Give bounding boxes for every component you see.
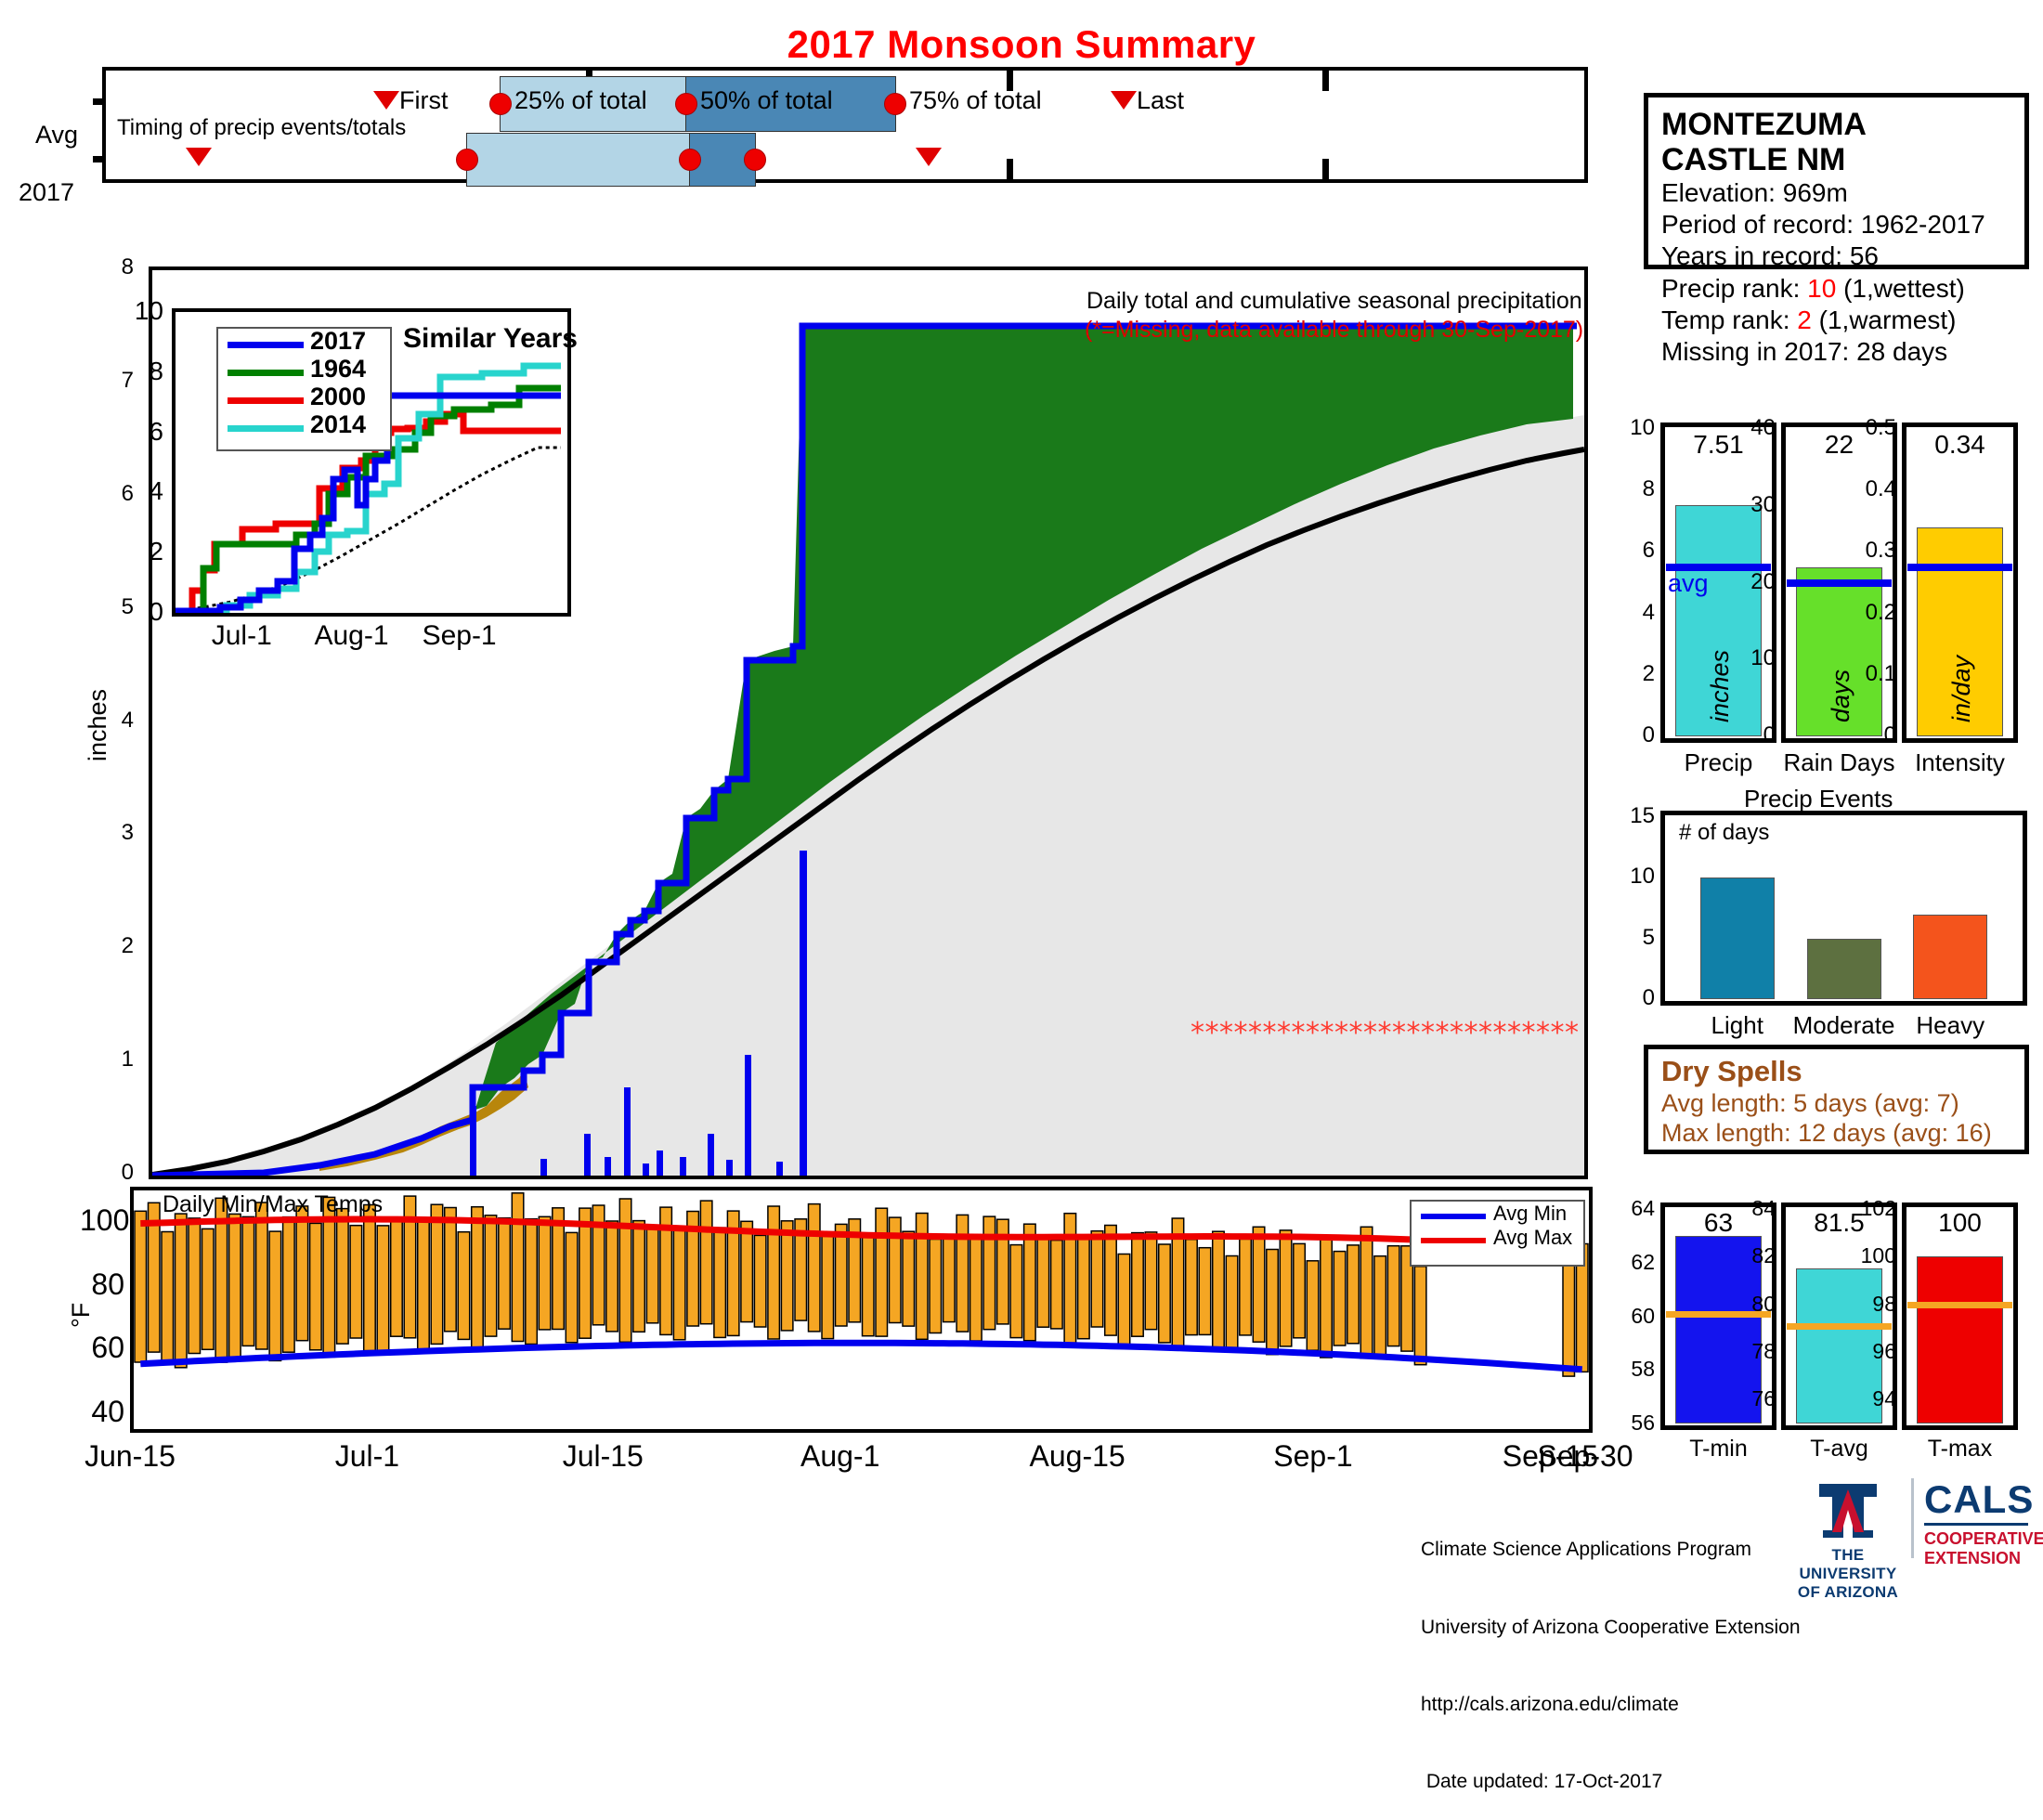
footer-line3: http://cals.arizona.edu/climate <box>1421 1692 1801 1718</box>
temp-daily-range-bar <box>1334 1252 1346 1345</box>
inset-legend-label-2014: 2014 <box>310 410 366 439</box>
footer-credits: Climate Science Applications Program Uni… <box>1421 1486 1801 1820</box>
station-name-line2: CASTLE NM <box>1661 142 2011 177</box>
temp-daily-range-bar <box>1118 1254 1130 1346</box>
temp-daily-range-bar <box>1280 1230 1292 1346</box>
temp-daily-range-bar <box>646 1228 658 1323</box>
temp-daily-range-bar <box>176 1214 188 1368</box>
precip-tick-1-1: 10 <box>1722 645 1776 671</box>
temp-daily-range-bar <box>1307 1261 1319 1350</box>
inset-legend-line-2017 <box>228 342 304 348</box>
precip-avg-line-1 <box>1787 579 1892 587</box>
inset-legend-line-2000 <box>228 397 304 404</box>
temp-daily-range-bar <box>1105 1226 1117 1336</box>
temp-daily-range-bar <box>499 1218 511 1330</box>
timing-caption: Timing of precip events/totals <box>117 115 406 141</box>
logo-divider <box>1911 1478 1914 1558</box>
main-x-tick: Jun-15 <box>56 1439 204 1474</box>
ua-logo-line2: OF ARIZONA <box>1792 1583 1904 1602</box>
temp-daily-range-bar <box>983 1216 995 1330</box>
temp-daily-range-bar <box>1347 1245 1360 1344</box>
precip-avg-label: avg <box>1668 569 1709 598</box>
temp-daily-range-bar <box>956 1215 969 1332</box>
temp-daily-range-bar <box>1321 1235 1333 1358</box>
main-x-tick: Aug-15 <box>1003 1439 1152 1474</box>
precip-tick-2-1: 0.1 <box>1842 661 1896 687</box>
events-cat-heavy: Heavy <box>1885 1011 2015 1040</box>
temp-daily-range-bar <box>135 1211 147 1362</box>
precip-tick-0-4: 8 <box>1601 476 1655 502</box>
temp-daily-range-bar <box>539 1216 551 1330</box>
inset-y-tick: 10 <box>119 296 163 326</box>
ua-block-a-icon <box>1812 1476 1884 1541</box>
precip-tick-1-3: 30 <box>1722 492 1776 518</box>
temp-daily-range-bar <box>242 1216 254 1345</box>
temp-daily-range-bar <box>229 1214 241 1360</box>
p75-label: 75% of total <box>909 86 1042 115</box>
main-y-tick: 2 <box>89 933 134 959</box>
last-marker-2017 <box>916 148 942 166</box>
temp-daily-range-bar <box>930 1240 942 1333</box>
p25-dot-avg <box>489 93 512 115</box>
temp-daily-range-bar <box>1374 1256 1386 1359</box>
temp-tick-1-2: 80 <box>1725 1292 1776 1317</box>
cals-wordmark: CALS <box>1924 1480 2043 1519</box>
temp-svg <box>134 1190 1589 1429</box>
precip-unit-2: in/day <box>1947 656 1976 722</box>
temperature-panel <box>130 1187 1593 1433</box>
temp-tick-1-4: 84 <box>1725 1196 1776 1221</box>
station-name-line1: MONTEZUMA <box>1661 107 2011 142</box>
temp-avg-line-2 <box>1907 1302 2012 1308</box>
temp-panel-caption: Daily Min/Max Temps <box>163 1191 383 1218</box>
temp-daily-range-bar <box>754 1235 766 1327</box>
temp-y-axis-label: °F <box>67 1303 96 1328</box>
station-precip-rank: Precip rank: 10 (1,wettest) <box>1661 273 2011 305</box>
precip-tick-1-4: 40 <box>1722 415 1776 441</box>
y2017-quartile-box-light <box>466 133 691 187</box>
temp-daily-range-bar <box>619 1199 631 1342</box>
p50-dot-2017 <box>679 149 701 171</box>
p25-label: 25% of total <box>514 86 647 115</box>
cals-line2: EXTENSION <box>1924 1549 2043 1568</box>
temp-daily-range-bar <box>1253 1227 1265 1342</box>
inset-x-tick: Sep-1 <box>395 620 525 652</box>
station-elevation: Elevation: 969m <box>1661 177 2011 209</box>
timing-row-label-avg: Avg <box>35 121 78 149</box>
temp-tick-0-1: 58 <box>1605 1357 1655 1382</box>
events-bar-light <box>1700 877 1775 999</box>
precip-tick-2-0: 0 <box>1842 722 1896 748</box>
temp-daily-range-bar <box>1226 1256 1238 1348</box>
temp-daily-range-bar <box>822 1235 834 1339</box>
precip-tick-0-1: 2 <box>1601 661 1655 687</box>
temp-tick-1-1: 78 <box>1725 1339 1776 1364</box>
temp-tick-0-2: 60 <box>1605 1304 1655 1329</box>
temp-daily-range-bar <box>673 1228 685 1340</box>
temp-value-2: 100 <box>1902 1208 2018 1238</box>
events-bar-heavy <box>1913 915 1987 999</box>
main-y-tick: 0 <box>89 1160 134 1186</box>
ua-logo: THE UNIVERSITY OF ARIZONA <box>1792 1476 1904 1602</box>
temp-tick-2-3: 100 <box>1846 1243 1896 1268</box>
page-title: 2017 Monsoon Summary <box>0 22 2043 67</box>
ua-logo-line1: THE UNIVERSITY <box>1792 1546 1904 1583</box>
temp-daily-range-bar <box>1387 1246 1399 1346</box>
temp-daily-range-bar <box>526 1219 538 1345</box>
precip-avg-line-2 <box>1907 564 2012 571</box>
events-inner-label: # of days <box>1679 820 1769 846</box>
main-x-tick: Aug-1 <box>766 1439 915 1474</box>
temp-daily-range-bar <box>1563 1264 1575 1377</box>
precip-tick-0-5: 10 <box>1601 415 1655 441</box>
precip-events-group-label: Precip Events <box>1744 785 1893 813</box>
temp-y-tick-40: 40 <box>80 1395 124 1429</box>
inset-y-tick: 0 <box>119 597 163 627</box>
temp-tick-1-0: 76 <box>1725 1386 1776 1411</box>
events-tick-1: 5 <box>1607 925 1655 951</box>
station-temp-rank: Temp rank: 2 (1,warmest) <box>1661 305 2011 336</box>
temp-daily-range-bar <box>310 1223 322 1349</box>
temp-daily-range-bar <box>917 1214 929 1340</box>
temp-daily-range-bar <box>1267 1250 1279 1355</box>
inset-y-tick: 4 <box>119 476 163 506</box>
last-marker-avg <box>1111 91 1137 110</box>
temp-daily-range-bar <box>606 1221 618 1332</box>
temp-legend-line-1 <box>1421 1238 1486 1243</box>
main-x-tick: Jul-1 <box>293 1439 441 1474</box>
temp-legend-label-1: Avg Max <box>1493 1226 1572 1250</box>
temp-tick-1-3: 82 <box>1725 1243 1776 1268</box>
events-bar-moderate <box>1807 939 1881 999</box>
main-y-tick: 3 <box>89 820 134 846</box>
precip-tick-0-0: 0 <box>1601 722 1655 748</box>
temp-daily-range-bar <box>1213 1231 1225 1349</box>
temp-daily-range-bar <box>256 1202 268 1349</box>
temp-daily-range-bar <box>876 1208 888 1336</box>
temp-daily-range-bar <box>1159 1244 1171 1343</box>
main-y-tick: 4 <box>89 708 134 734</box>
temp-daily-range-bar <box>418 1219 430 1350</box>
inset-legend-label-2017: 2017 <box>310 327 366 356</box>
temp-y-tick-80: 80 <box>80 1267 124 1302</box>
temp-tick-2-2: 98 <box>1846 1292 1896 1317</box>
temp-daily-range-bar <box>633 1221 645 1332</box>
main-chart-annotation-2: (*=Missing, data available through 30-Se… <box>1085 317 1583 344</box>
temp-daily-range-bar <box>1078 1236 1090 1339</box>
p50-dot-avg <box>675 93 697 115</box>
temp-daily-range-bar <box>1091 1231 1103 1327</box>
temp-daily-range-bar <box>269 1231 281 1360</box>
temp-tick-2-4: 102 <box>1846 1196 1896 1221</box>
events-tick-2: 10 <box>1607 864 1655 890</box>
temp-tick-2-1: 96 <box>1846 1339 1896 1364</box>
precip-tick-2-3: 0.3 <box>1842 538 1896 564</box>
inset-y-tick: 8 <box>119 357 163 386</box>
temp-tick-0-3: 62 <box>1605 1250 1655 1275</box>
temp-daily-range-bar <box>781 1221 793 1331</box>
p25-dot-2017 <box>456 149 478 171</box>
station-info-box: MONTEZUMA CASTLE NM Elevation: 969m Peri… <box>1644 93 2029 269</box>
inset-title: Similar Years <box>403 323 578 355</box>
station-missing: Missing in 2017: 28 days <box>1661 336 2011 368</box>
main-chart-annotation-1: Daily total and cumulative seasonal prec… <box>1087 288 1582 315</box>
temp-daily-range-bar <box>714 1228 726 1337</box>
p75-dot-2017 <box>744 149 766 171</box>
precip-tick-2-2: 0.2 <box>1842 600 1896 626</box>
temp-daily-range-bar <box>1186 1240 1198 1335</box>
temp-daily-range-bar <box>1199 1248 1211 1335</box>
temp-avg-line-1 <box>1787 1323 1892 1330</box>
temp-bar-2 <box>1917 1256 2003 1423</box>
temp-tick-2-0: 94 <box>1846 1386 1896 1411</box>
inset-legend-label-1964: 1964 <box>310 355 366 383</box>
temp-daily-range-bar <box>1037 1238 1049 1327</box>
temp-daily-range-bar <box>445 1208 457 1332</box>
events-tick-3: 15 <box>1607 803 1655 829</box>
precip-tick-2-5: 0.5 <box>1842 415 1896 441</box>
p50-label: 50% of total <box>700 86 833 115</box>
station-period: Period of record: 1962-2017 <box>1661 209 2011 240</box>
temp-daily-range-bar <box>700 1201 712 1324</box>
timing-row-label-2017: 2017 <box>19 178 74 207</box>
temp-daily-range-bar <box>485 1215 497 1336</box>
temp-daily-range-bar <box>202 1228 215 1349</box>
temp-daily-range-bar <box>431 1204 443 1344</box>
temp-daily-range-bar <box>903 1231 915 1326</box>
temp-daily-range-bar <box>809 1204 821 1332</box>
cals-line1: COOPERATIVE <box>1924 1529 2043 1549</box>
main-y-tick: 1 <box>89 1046 134 1072</box>
temp-daily-range-bar <box>472 1207 484 1348</box>
events-tick-0: 0 <box>1607 985 1655 1011</box>
temp-daily-range-bar <box>391 1217 403 1336</box>
temp-daily-range-bar <box>1294 1243 1306 1337</box>
footer-line4: Date updated: 17-Oct-2017 <box>1421 1769 1801 1795</box>
temp-y-tick-100: 100 <box>80 1203 124 1238</box>
temp-daily-range-bar <box>1240 1239 1252 1335</box>
temp-daily-range-bar <box>283 1217 295 1353</box>
temp-daily-range-bar <box>579 1208 592 1338</box>
temp-daily-range-bar <box>1414 1267 1426 1365</box>
cals-logo: CALS COOPERATIVE EXTENSION <box>1924 1480 2043 1567</box>
temp-daily-range-bar <box>458 1232 470 1340</box>
temp-daily-range-bar <box>162 1232 174 1363</box>
footer-line2: University of Arizona Cooperative Extens… <box>1421 1615 1801 1641</box>
first-marker-2017 <box>186 148 212 166</box>
precip-tick-2-4: 0.4 <box>1842 476 1896 502</box>
temp-daily-range-bar <box>296 1206 308 1341</box>
cals-underline <box>1924 1523 2028 1526</box>
dry-spells-box: Dry Spells Avg length: 5 days (avg: 7) M… <box>1644 1045 2029 1154</box>
temp-daily-range-bar <box>741 1221 753 1321</box>
temp-daily-range-bar <box>350 1226 362 1338</box>
temp-daily-range-bar <box>1051 1241 1063 1329</box>
inset-legend-line-2014 <box>228 425 304 432</box>
temp-daily-range-bar <box>337 1209 349 1345</box>
precip-cat-2: Intensity <box>1872 748 2043 777</box>
last-label: Last <box>1137 86 1184 115</box>
temp-legend-label-0: Avg Min <box>1493 1202 1567 1226</box>
temp-daily-range-bar <box>189 1218 201 1354</box>
temp-daily-range-bar <box>566 1232 578 1342</box>
precip-tick-1-0: 0 <box>1722 722 1776 748</box>
timing-panel: First 25% of total 50% of total 75% of t… <box>102 67 1588 183</box>
main-x-tick: Sep-1 <box>1239 1439 1387 1474</box>
inset-legend-line-1964 <box>228 370 304 376</box>
dry-spells-avg: Avg length: 5 days (avg: 7) <box>1661 1088 2011 1118</box>
first-marker-avg <box>373 91 399 110</box>
dry-spells-max: Max length: 12 days (avg: 16) <box>1661 1118 2011 1148</box>
temp-daily-range-bar <box>364 1205 376 1351</box>
station-years: Years in record: 56 <box>1661 240 2011 272</box>
temp-cat-2: T-max <box>1872 1436 2043 1462</box>
temp-daily-range-bar <box>377 1226 389 1351</box>
precip-tick-0-2: 4 <box>1601 600 1655 626</box>
first-label: First <box>399 86 448 115</box>
temp-daily-range-bar <box>970 1236 982 1341</box>
temp-daily-range-bar <box>1145 1232 1157 1330</box>
temp-daily-range-bar <box>512 1193 524 1342</box>
temp-y-tick-60: 60 <box>80 1331 124 1365</box>
inset-legend-label-2000: 2000 <box>310 383 366 411</box>
temp-legend-line-0 <box>1421 1214 1486 1219</box>
inset-y-tick: 2 <box>119 537 163 566</box>
temp-daily-range-bar <box>1064 1214 1076 1344</box>
main-x-tick: Jul-15 <box>528 1439 677 1474</box>
temp-daily-range-bar <box>943 1234 956 1321</box>
temp-tick-0-4: 64 <box>1605 1196 1655 1221</box>
temp-daily-range-bar <box>768 1206 780 1339</box>
footer-line1: Climate Science Applications Program <box>1421 1537 1801 1563</box>
temp-daily-range-bar <box>1132 1233 1144 1337</box>
temp-daily-range-bar <box>1010 1245 1022 1338</box>
precip-tick-0-3: 6 <box>1601 538 1655 564</box>
temp-tick-0-0: 56 <box>1605 1410 1655 1436</box>
missing-data-stars: *************************** <box>1191 1017 1580 1049</box>
main-y-tick: 8 <box>89 254 134 280</box>
precip-value-2: 0.34 <box>1902 430 2018 460</box>
temp-daily-range-bar <box>1024 1224 1036 1341</box>
p75-dot-avg <box>884 93 906 115</box>
precip-tick-1-2: 20 <box>1722 569 1776 595</box>
dry-spells-title: Dry Spells <box>1661 1055 2011 1088</box>
temp-daily-range-bar <box>1360 1227 1373 1358</box>
temp-daily-range-bar <box>863 1237 875 1336</box>
inset-y-tick: 6 <box>119 417 163 447</box>
temp-daily-range-bar <box>836 1224 848 1326</box>
